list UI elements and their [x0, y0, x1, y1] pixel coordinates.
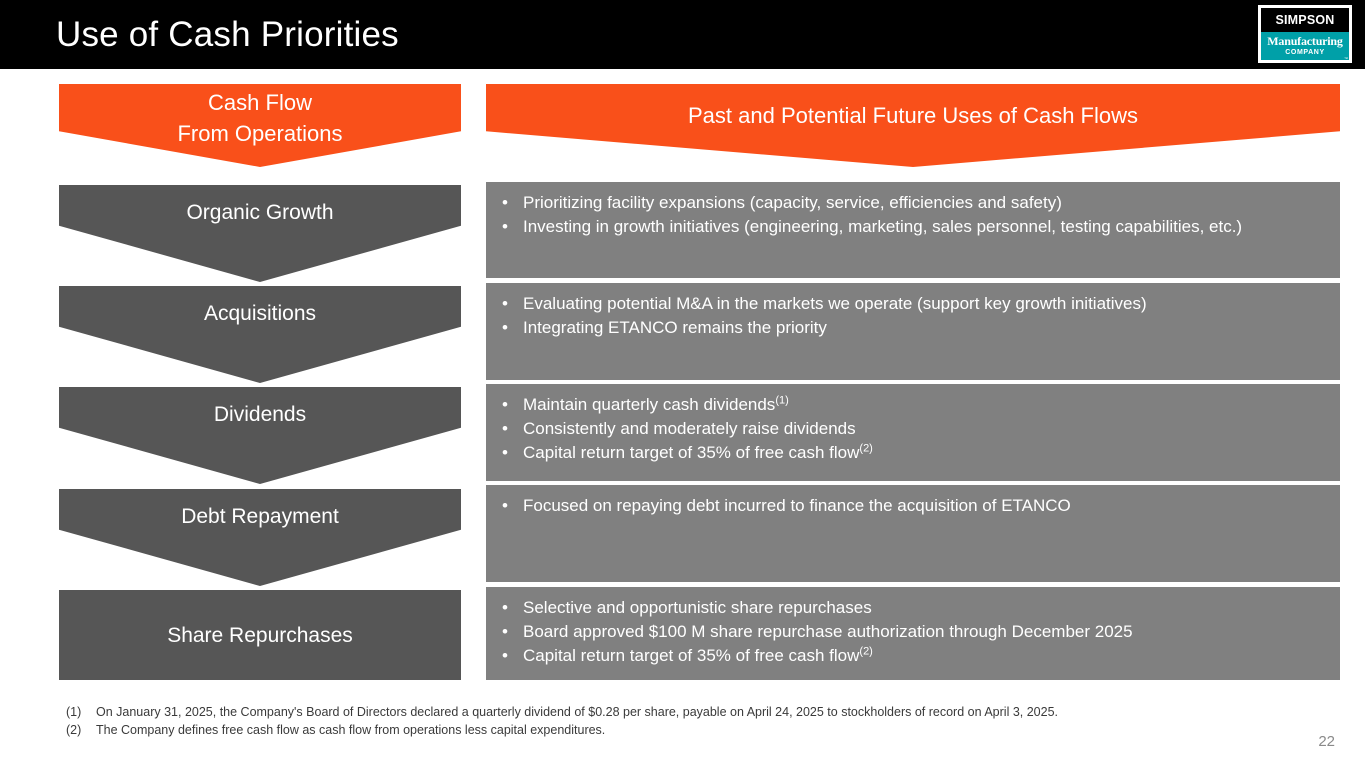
logo-inner: SIMPSON Manufacturing COMPANY ™: [1261, 8, 1349, 60]
priority-label: Debt Repayment: [181, 503, 339, 586]
logo-bottom-band: Manufacturing COMPANY ™: [1261, 32, 1349, 60]
bullet-text-main: Focused on repaying debt incurred to fin…: [523, 496, 1071, 515]
bullet-item: •Evaluating potential M&A in the markets…: [498, 292, 1326, 316]
bullet-dot-icon: •: [498, 596, 523, 620]
banner-past-and-potential-future-uses: Past and Potential Future Uses of Cash F…: [486, 84, 1340, 167]
bullet-text-main: Consistently and moderately raise divide…: [523, 419, 856, 438]
footnote-reference: (2): [859, 442, 872, 454]
bullet-text: Capital return target of 35% of free cas…: [523, 644, 1326, 668]
bullet-text-main: Integrating ETANCO remains the priority: [523, 318, 827, 337]
footnotes: (1)On January 31, 2025, the Company's Bo…: [66, 704, 1266, 739]
bullet-text: Integrating ETANCO remains the priority: [523, 316, 1326, 340]
page-number: 22: [1318, 733, 1335, 750]
priority-label: Share Repurchases: [167, 622, 353, 649]
priority-label: Dividends: [214, 401, 306, 484]
bullet-text-main: Capital return target of 35% of free cas…: [523, 646, 859, 665]
bullet-item: •Prioritizing facility expansions (capac…: [498, 191, 1326, 215]
banner-left-line1: Cash Flow: [177, 87, 342, 118]
bullet-dot-icon: •: [498, 417, 523, 441]
bullet-text: Maintain quarterly cash dividends(1): [523, 393, 1326, 417]
page-title: Use of Cash Priorities: [56, 12, 399, 57]
bullet-item: •Investing in growth initiatives (engine…: [498, 215, 1326, 239]
bullet-text: Investing in growth initiatives (enginee…: [523, 215, 1326, 239]
bullet-text-main: Investing in growth initiatives (enginee…: [523, 217, 1242, 236]
bullet-text-main: Evaluating potential M&A in the markets …: [523, 294, 1147, 313]
bullet-item: •Selective and opportunistic share repur…: [498, 596, 1326, 620]
priority-chevron-debt-repayment: Debt Repayment: [59, 489, 461, 586]
footnote-text: The Company defines free cash flow as ca…: [96, 722, 1266, 740]
bullet-dot-icon: •: [498, 191, 523, 215]
bullet-text: Prioritizing facility expansions (capaci…: [523, 191, 1326, 215]
bullet-text: Consistently and moderately raise divide…: [523, 417, 1326, 441]
priority-label: Organic Growth: [186, 199, 333, 282]
bullet-item: •Board approved $100 M share repurchase …: [498, 620, 1326, 644]
bullet-item: •Capital return target of 35% of free ca…: [498, 644, 1326, 668]
footnote-marker: (1): [66, 704, 96, 722]
bullet-dot-icon: •: [498, 441, 523, 465]
banner-left-text: Cash Flow From Operations: [177, 87, 342, 149]
footnote-text: On January 31, 2025, the Company's Board…: [96, 704, 1266, 722]
footnote-reference: (1): [775, 394, 788, 406]
content-box-dividends: •Maintain quarterly cash dividends(1)•Co…: [486, 384, 1340, 481]
bullet-item: •Consistently and moderately raise divid…: [498, 417, 1326, 441]
bullet-text: Focused on repaying debt incurred to fin…: [523, 494, 1326, 518]
logo-top-band: SIMPSON: [1261, 8, 1349, 32]
logo-manufacturing-text: Manufacturing: [1267, 35, 1342, 48]
bullet-dot-icon: •: [498, 644, 523, 668]
priority-chevron-acquisitions: Acquisitions: [59, 286, 461, 383]
banner-cash-flow-from-operations: Cash Flow From Operations: [59, 84, 461, 167]
bullet-dot-icon: •: [498, 292, 523, 316]
bullet-text-main: Board approved $100 M share repurchase a…: [523, 622, 1133, 641]
banner-right-text: Past and Potential Future Uses of Cash F…: [688, 102, 1138, 129]
bullet-text-main: Prioritizing facility expansions (capaci…: [523, 193, 1062, 212]
trademark-icon: ™: [1344, 56, 1348, 61]
bullet-dot-icon: •: [498, 393, 523, 417]
priority-label: Acquisitions: [204, 300, 316, 383]
content-box-debt-repayment: •Focused on repaying debt incurred to fi…: [486, 485, 1340, 582]
bullet-text-main: Maintain quarterly cash dividends: [523, 395, 775, 414]
bullet-dot-icon: •: [498, 215, 523, 239]
footnote-line: (2)The Company defines free cash flow as…: [66, 722, 1266, 740]
footnote-marker: (2): [66, 722, 96, 740]
bullet-dot-icon: •: [498, 620, 523, 644]
bullet-text: Evaluating potential M&A in the markets …: [523, 292, 1326, 316]
logo-simpson-text: SIMPSON: [1275, 13, 1334, 27]
footnote-line: (1)On January 31, 2025, the Company's Bo…: [66, 704, 1266, 722]
footnote-reference: (2): [859, 645, 872, 657]
simpson-manufacturing-logo: SIMPSON Manufacturing COMPANY ™: [1258, 5, 1352, 63]
bullet-dot-icon: •: [498, 316, 523, 340]
bullet-dot-icon: •: [498, 494, 523, 518]
content-box-organic-growth: •Prioritizing facility expansions (capac…: [486, 182, 1340, 278]
bullet-text: Selective and opportunistic share repurc…: [523, 596, 1326, 620]
bullet-item: •Integrating ETANCO remains the priority: [498, 316, 1326, 340]
bullet-text: Capital return target of 35% of free cas…: [523, 441, 1326, 465]
bullet-text: Board approved $100 M share repurchase a…: [523, 620, 1326, 644]
banner-left-line2: From Operations: [177, 118, 342, 149]
logo-company-text: COMPANY: [1285, 48, 1324, 57]
content-box-acquisitions: •Evaluating potential M&A in the markets…: [486, 283, 1340, 380]
priority-chevron-share-repurchases: Share Repurchases: [59, 590, 461, 680]
bullet-text-main: Capital return target of 35% of free cas…: [523, 443, 859, 462]
bullet-item: •Maintain quarterly cash dividends(1): [498, 393, 1326, 417]
bullet-item: •Capital return target of 35% of free ca…: [498, 441, 1326, 465]
content-box-share-repurchases: •Selective and opportunistic share repur…: [486, 587, 1340, 680]
bullet-item: •Focused on repaying debt incurred to fi…: [498, 494, 1326, 518]
priority-chevron-dividends: Dividends: [59, 387, 461, 484]
bullet-text-main: Selective and opportunistic share repurc…: [523, 598, 872, 617]
priority-chevron-organic-growth: Organic Growth: [59, 185, 461, 282]
